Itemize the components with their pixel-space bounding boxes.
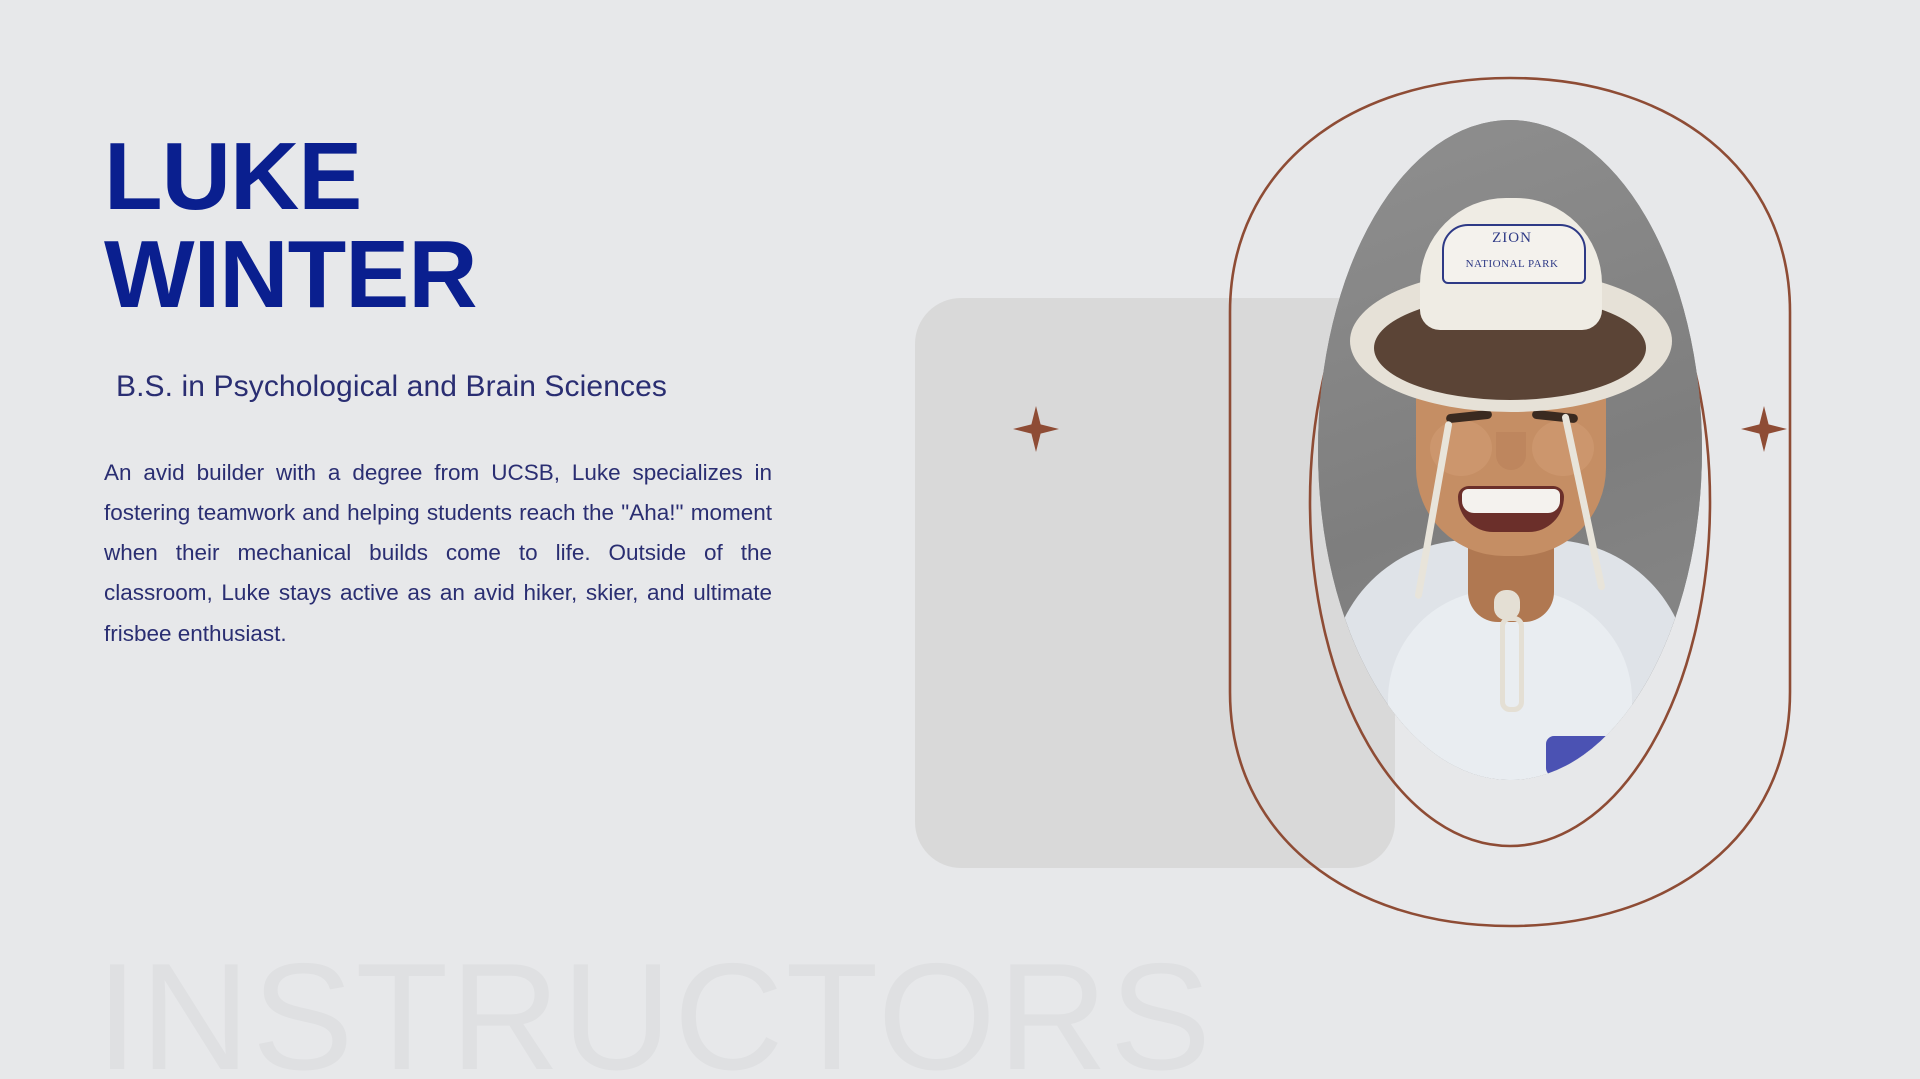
- right-cheek: [1532, 420, 1594, 476]
- instructor-first-name: LUKE: [104, 128, 784, 226]
- teeth-shape: [1462, 489, 1560, 513]
- portrait-composition: ZION NATIONAL PARK: [900, 72, 1900, 932]
- instructor-slide: INSTRUCTORS LUKE WINTER B.S. in Psycholo…: [0, 0, 1920, 1079]
- hat-patch-line2: NATIONAL PARK: [1446, 258, 1578, 276]
- instructor-name: LUKE WINTER: [104, 128, 784, 324]
- smiling-mouth: [1458, 486, 1564, 532]
- instructor-last-name: WINTER: [104, 226, 784, 324]
- shirt-logo: [1546, 736, 1620, 776]
- background-watermark: INSTRUCTORS: [96, 941, 1213, 1079]
- instructor-text-column: LUKE WINTER B.S. in Psychological and Br…: [104, 128, 784, 654]
- instructor-photo: ZION NATIONAL PARK: [1318, 120, 1702, 780]
- instructor-bio: An avid builder with a degree from UCSB,…: [104, 453, 772, 653]
- hat-strap-tail: [1500, 616, 1524, 712]
- hat-patch-line1: ZION: [1458, 230, 1566, 252]
- instructor-degree: B.S. in Psychological and Brain Sciences: [116, 368, 784, 406]
- nose-shape: [1496, 432, 1526, 470]
